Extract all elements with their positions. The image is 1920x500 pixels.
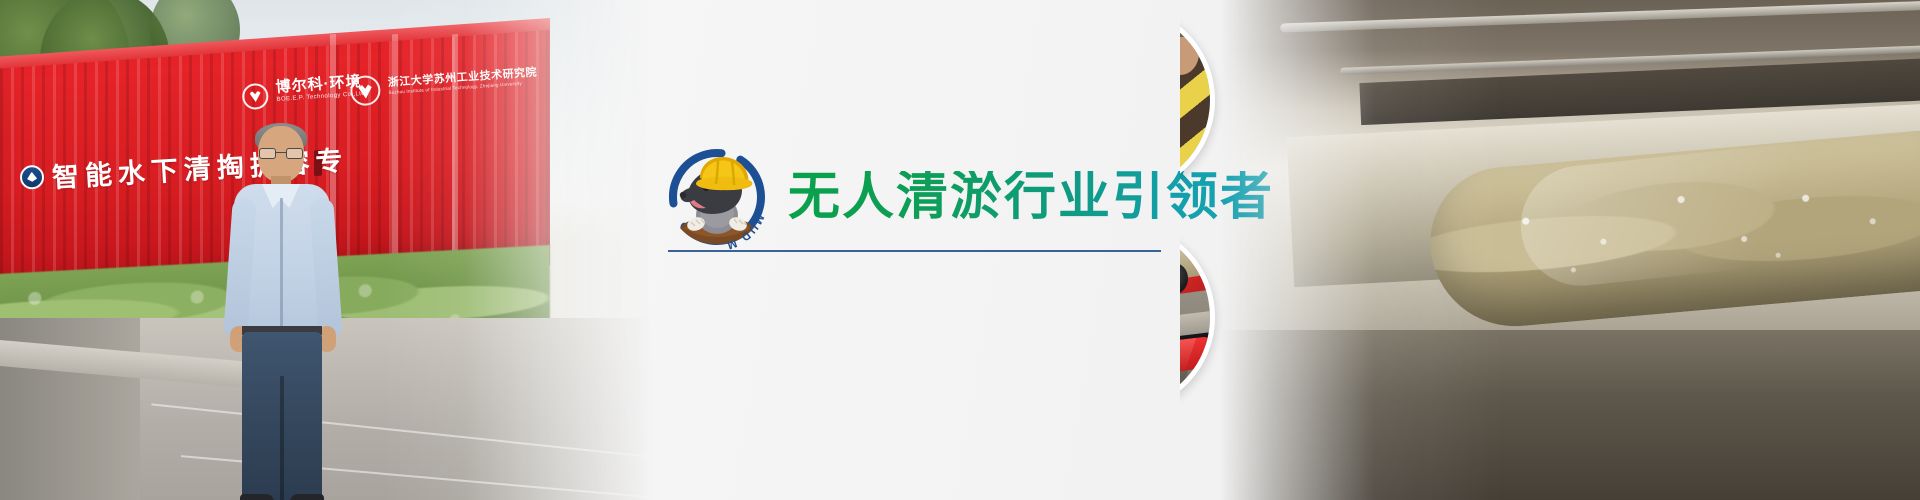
figure-glasses [259, 148, 303, 159]
mud-mole-logo: MUD MOLE [660, 140, 774, 254]
slogan-badge-icon [19, 164, 44, 189]
container-site-photo: 博尔科·环境 BOE.E.P. Technology Co.,Ltd. 浙江大学… [0, 0, 660, 500]
container-door-seam [392, 34, 398, 266]
ground-surface [1220, 330, 1920, 500]
sludge-discharge-photo [1220, 0, 1920, 500]
dredger-auger-photo [1180, 222, 1215, 412]
headline-divider [668, 250, 1161, 252]
right-photo-group [1180, 0, 1920, 500]
center-content: MUD MOLE 无人清淤行业引领者 [660, 0, 1180, 500]
figure-shoe-left [240, 494, 274, 500]
operator-console-photo [1180, 5, 1215, 195]
hero-banner: 博尔科·环境 BOE.E.P. Technology Co.,Ltd. 浙江大学… [0, 0, 1920, 500]
figure-trouser-seam [280, 376, 284, 500]
figure-shirt-placket [280, 198, 283, 330]
figure-shoe-right [290, 494, 324, 500]
handrail [1280, 0, 1920, 32]
engineer-figure [228, 126, 338, 500]
